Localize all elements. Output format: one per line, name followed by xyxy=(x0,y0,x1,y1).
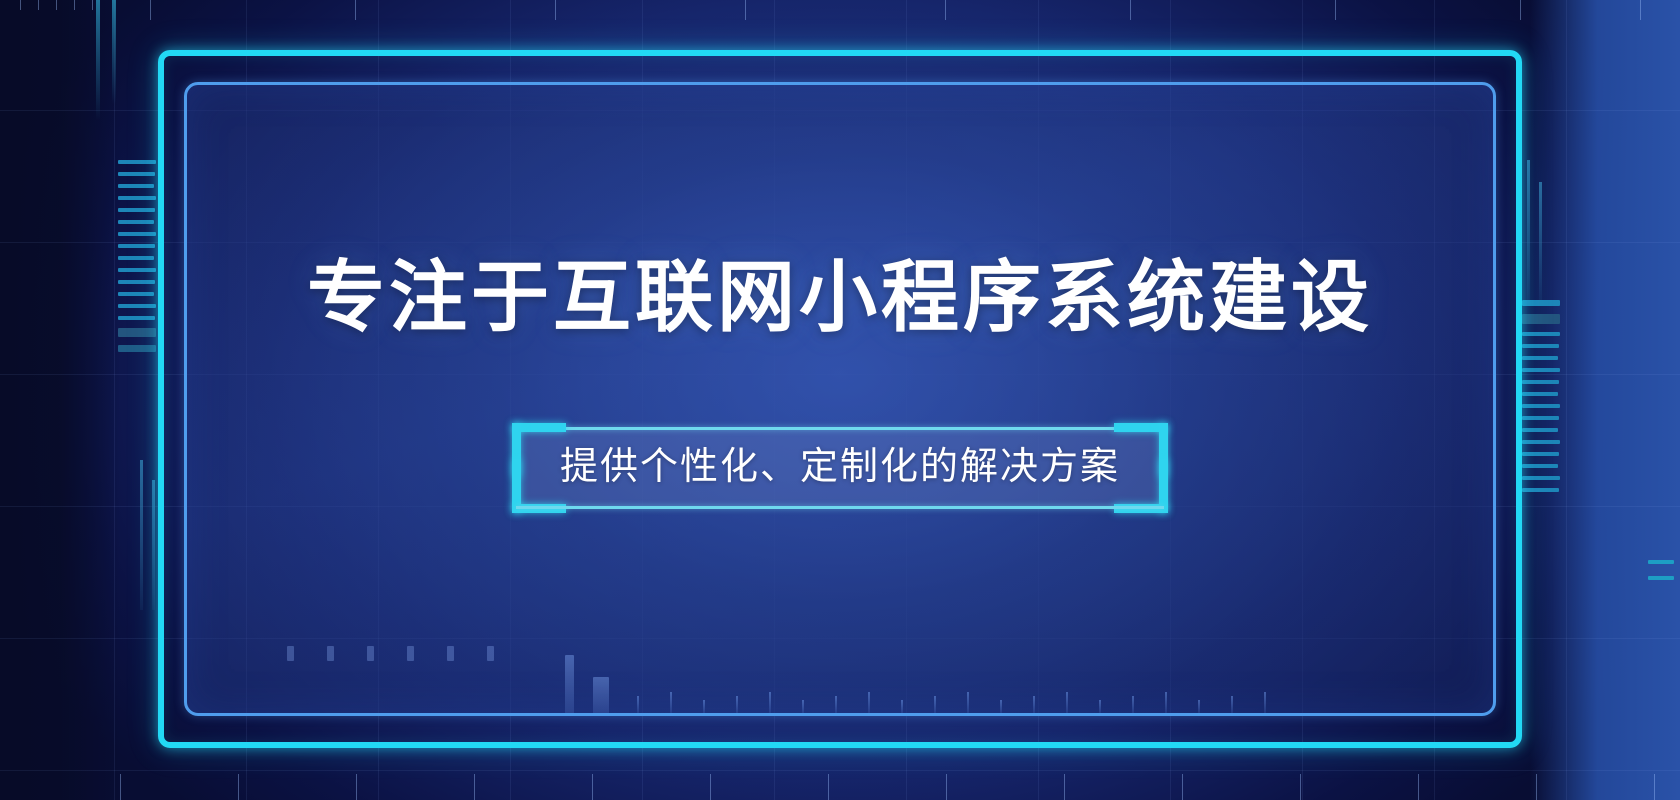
banner-subtitle: 提供个性化、定制化的解决方案 xyxy=(560,445,1120,491)
banner-content: 专注于互联网小程序系统建设 提供个性化、定制化的解决方案 xyxy=(0,0,1680,800)
subtitle-left-rail xyxy=(514,427,518,509)
banner-stage: 专注于互联网小程序系统建设 提供个性化、定制化的解决方案 xyxy=(0,0,1680,800)
banner-subtitle-box: 提供个性化、定制化的解决方案 xyxy=(516,427,1164,509)
banner-title: 专注于互联网小程序系统建设 xyxy=(307,255,1373,341)
subtitle-right-rail xyxy=(1162,427,1166,509)
